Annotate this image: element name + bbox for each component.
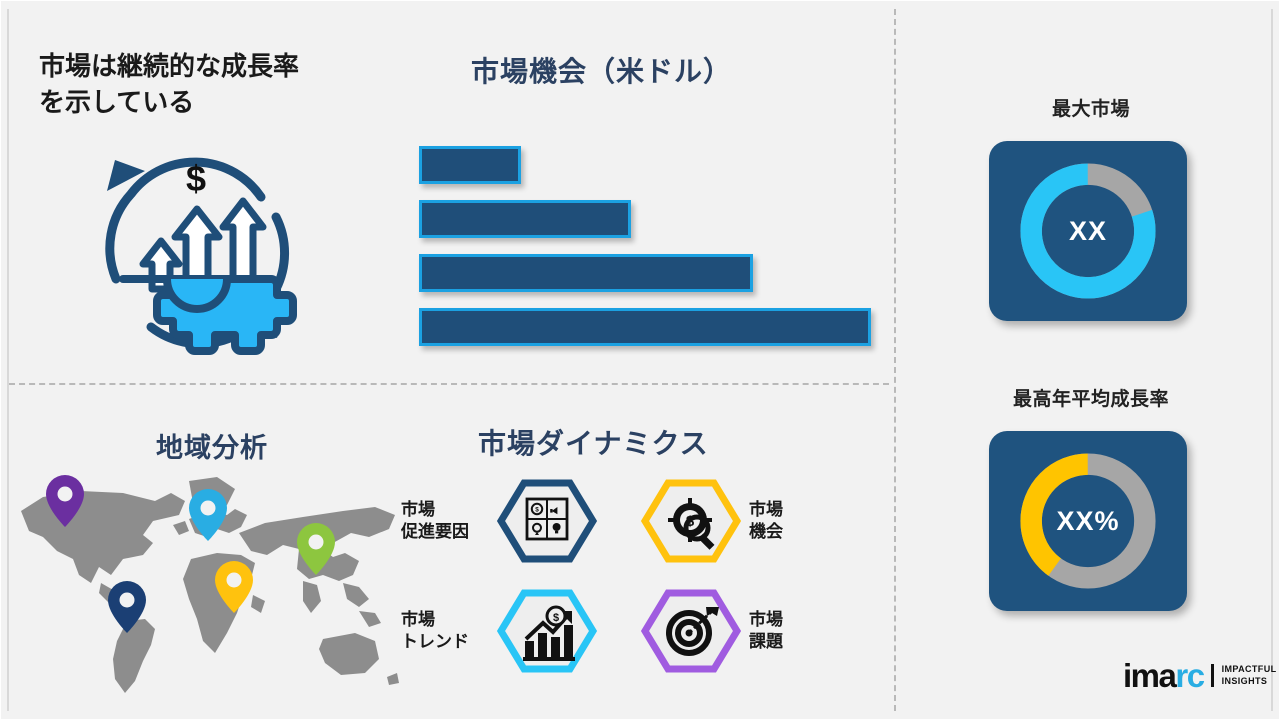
dynamics-item-opportunities[interactable]: $ 市場 機会: [641, 479, 845, 563]
bar-row: [419, 146, 879, 184]
highest-cagr-title: 最高年平均成長率: [961, 384, 1221, 411]
right-edge-rule: [1271, 9, 1273, 711]
svg-text:$: $: [553, 612, 559, 624]
dynamics-label-trends: 市場 トレンド: [401, 609, 497, 653]
imarc-logo: imarc IMPACTFUL INSIGHTS: [1123, 659, 1277, 692]
bar-3: [419, 254, 753, 292]
dynamics-panel-title: 市場ダイナミクス: [478, 422, 709, 462]
largest-market-title: 最大市場: [961, 94, 1221, 121]
hex-challenges: [641, 589, 741, 673]
dynamics-item-challenges[interactable]: 市場 課題: [641, 589, 845, 673]
dynamics-label-opportunities: 市場 機会: [749, 499, 845, 543]
logo-tagline-line2: INSIGHTS: [1222, 676, 1277, 687]
bar-2: [419, 200, 631, 238]
bar-row: [419, 200, 879, 238]
svg-text:$: $: [186, 158, 206, 199]
highest-cagr-value: XX%: [989, 431, 1187, 611]
logo-mark-accent: rc: [1175, 657, 1203, 694]
pin-europe: [189, 489, 227, 541]
growth-panel-title: 市場は継続的な成長率 を示している: [39, 49, 389, 121]
bar-1: [419, 146, 521, 184]
dynamics-item-drivers[interactable]: 市場 促進要因 $: [401, 479, 597, 563]
logo-mark-dark: ima: [1123, 657, 1175, 694]
logo-wordmark: imarc: [1123, 659, 1204, 692]
market-opportunity-bar-chart: [419, 146, 879, 351]
slide-canvas: 市場は継続的な成長率 を示している $ 市場機会（米ドル）: [0, 0, 1280, 720]
bar-row: [419, 308, 879, 346]
bar-4: [419, 308, 871, 346]
largest-market-donut-card: XX: [989, 141, 1187, 321]
opportunity-panel-title: 市場機会（米ドル）: [471, 50, 732, 90]
logo-tagline-line1: IMPACTFUL: [1222, 664, 1277, 675]
svg-text:$: $: [535, 506, 539, 513]
logo-tagline: IMPACTFUL INSIGHTS: [1211, 664, 1277, 687]
growth-cycle-gear-icon: $: [71, 129, 321, 369]
hex-drivers: $: [497, 479, 597, 563]
dynamics-label-challenges: 市場 課題: [749, 609, 845, 653]
horizontal-divider: [9, 383, 889, 385]
dynamics-item-trends[interactable]: 市場 トレンド $: [401, 589, 597, 673]
largest-market-value: XX: [989, 141, 1187, 321]
hex-trends: $: [497, 589, 597, 673]
world-map: [3, 463, 403, 701]
bar-row: [419, 254, 879, 292]
regional-panel-title: 地域分析: [156, 426, 268, 465]
dynamics-label-drivers: 市場 促進要因: [401, 499, 497, 543]
highest-cagr-donut-card: XX%: [989, 431, 1187, 611]
market-dynamics-grid: 市場 促進要因 $: [401, 479, 871, 669]
vertical-divider: [894, 9, 896, 711]
hex-opportunities: $: [641, 479, 741, 563]
